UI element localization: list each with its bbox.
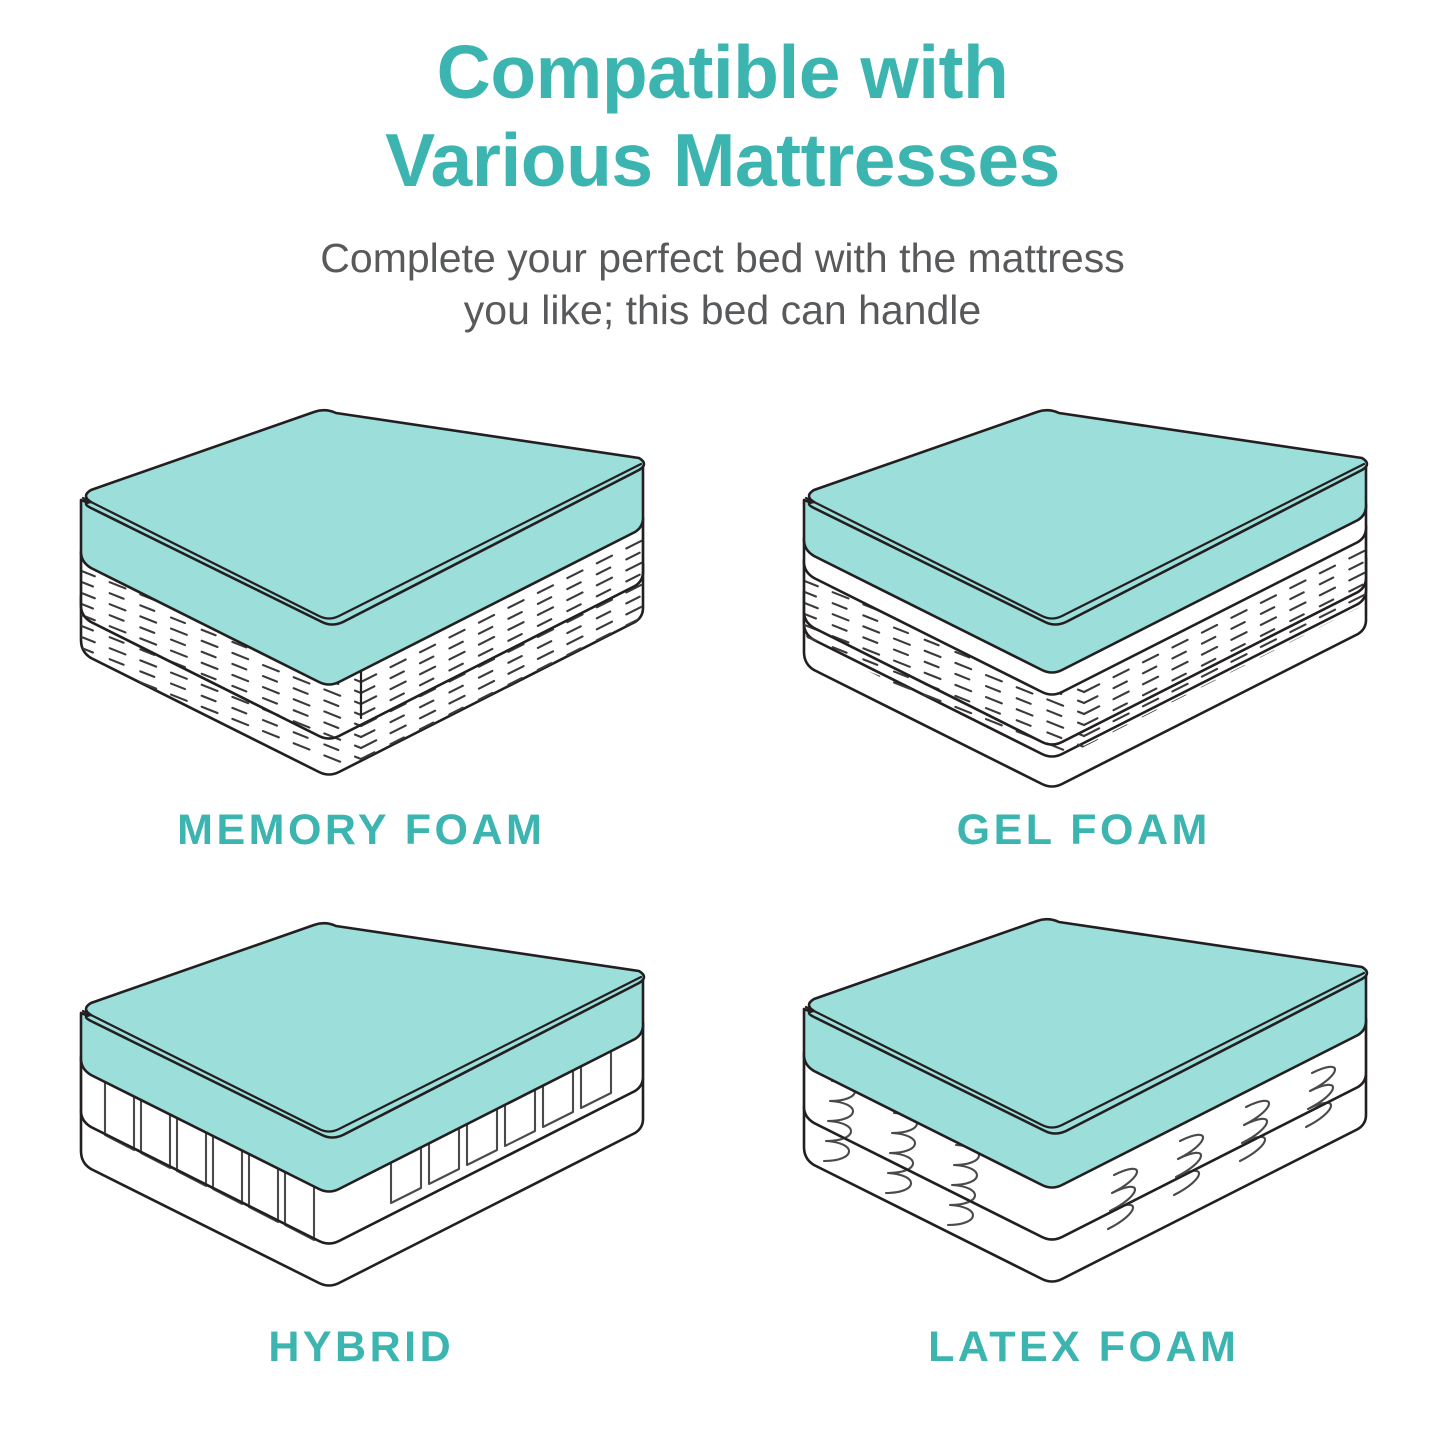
- mattress-card-latex-foam: LATEX FOAM: [723, 905, 1445, 1410]
- mattress-card-hybrid: HYBRID: [0, 905, 723, 1410]
- latex-foam-illustration: [784, 905, 1384, 1285]
- mattress-label-memory-foam: MEMORY FOAM: [177, 806, 545, 855]
- mattress-label-latex-foam: LATEX FOAM: [928, 1323, 1239, 1372]
- gel-foam-illustration: [784, 400, 1384, 780]
- infographic-page: Compatible with Various Mattresses Compl…: [0, 0, 1445, 1445]
- header: Compatible with Various Mattresses Compl…: [0, 28, 1445, 336]
- mattress-label-hybrid: HYBRID: [268, 1323, 454, 1372]
- page-subtitle: Complete your perfect bed with the mattr…: [243, 232, 1203, 336]
- page-title: Compatible with Various Mattresses: [0, 28, 1445, 204]
- page-subtitle-line-2: you like; this bed can handle: [243, 284, 1203, 336]
- mattress-grid: MEMORY FOAM: [0, 400, 1445, 1410]
- page-subtitle-line-1: Complete your perfect bed with the mattr…: [243, 232, 1203, 284]
- page-title-line-1: Compatible with: [0, 28, 1445, 116]
- mattress-label-gel-foam: GEL FOAM: [957, 806, 1211, 855]
- mattress-card-gel-foam: GEL FOAM: [723, 400, 1445, 905]
- hybrid-illustration: [61, 905, 661, 1285]
- memory-foam-illustration: [61, 400, 661, 780]
- mattress-card-memory-foam: MEMORY FOAM: [0, 400, 723, 905]
- page-title-line-2: Various Mattresses: [0, 116, 1445, 204]
